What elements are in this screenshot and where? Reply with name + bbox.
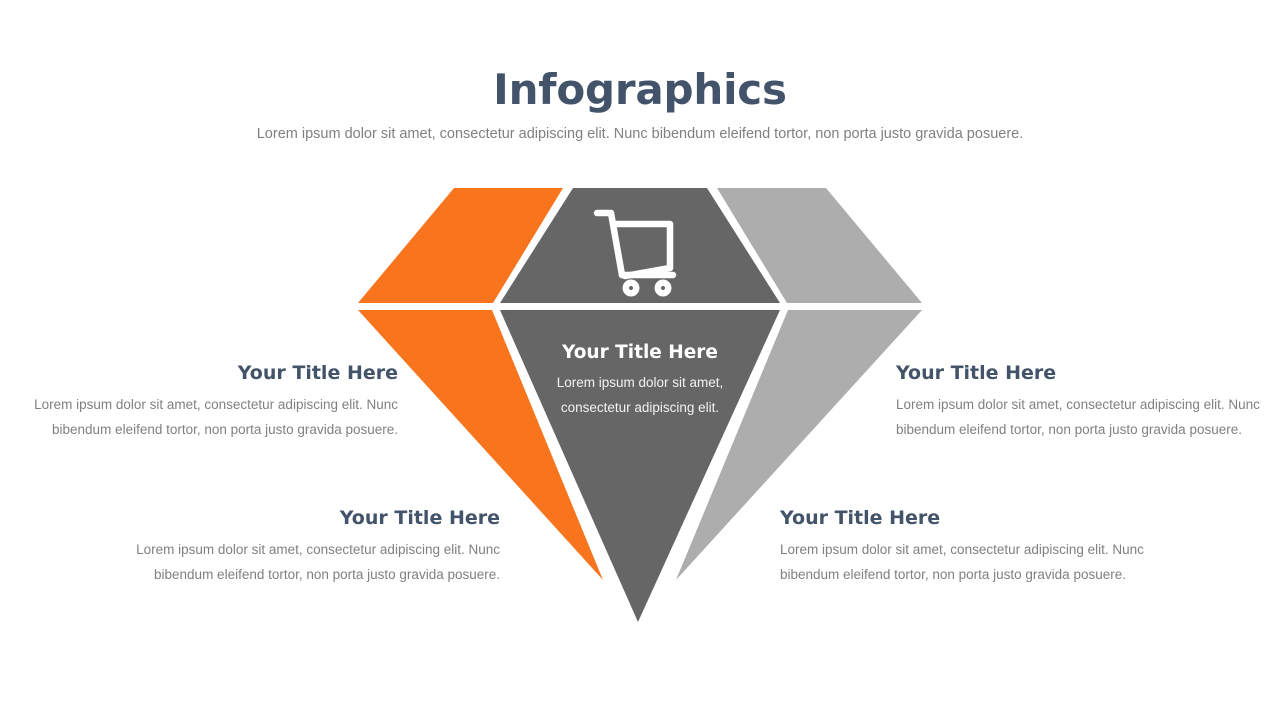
center-text-block: Your Title Here Lorem ipsum dolor sit am…	[547, 342, 733, 421]
center-block-description: Lorem ipsum dolor sit amet, consectetur …	[547, 371, 733, 421]
page-title: Infographics	[0, 68, 1280, 112]
header: Infographics Lorem ipsum dolor sit amet,…	[0, 68, 1280, 143]
text-block-description: Lorem ipsum dolor sit amet, consectetur …	[130, 538, 500, 588]
page-subtitle: Lorem ipsum dolor sit amet, consectetur …	[0, 126, 1280, 143]
slide-canvas: Infographics Lorem ipsum dolor sit amet,…	[0, 0, 1280, 720]
text-block-right-top: Your Title Here Lorem ipsum dolor sit am…	[896, 362, 1266, 443]
text-block-left-bottom: Your Title Here Lorem ipsum dolor sit am…	[130, 507, 500, 588]
text-block-right-bottom: Your Title Here Lorem ipsum dolor sit am…	[780, 507, 1150, 588]
text-block-description: Lorem ipsum dolor sit amet, consectetur …	[896, 393, 1266, 443]
text-block-title: Your Title Here	[30, 362, 398, 385]
text-block-title: Your Title Here	[780, 507, 1150, 530]
text-block-description: Lorem ipsum dolor sit amet, consectetur …	[780, 538, 1150, 588]
center-block-title: Your Title Here	[547, 342, 733, 363]
text-block-description: Lorem ipsum dolor sit amet, consectetur …	[30, 393, 398, 443]
text-block-title: Your Title Here	[130, 507, 500, 530]
text-block-left-top: Your Title Here Lorem ipsum dolor sit am…	[30, 362, 398, 443]
text-block-title: Your Title Here	[896, 362, 1266, 385]
